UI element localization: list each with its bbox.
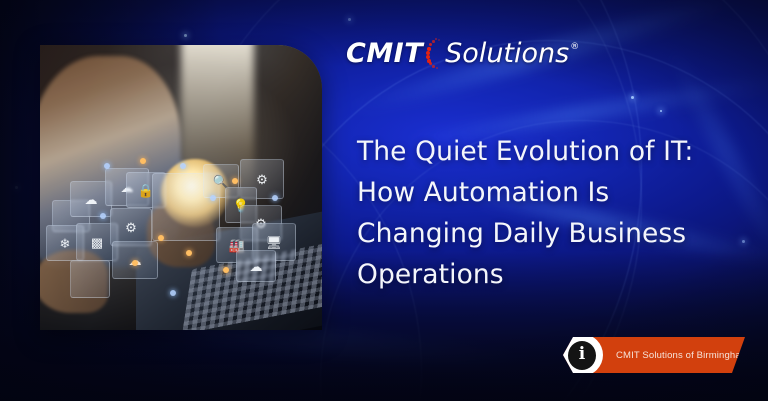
connection-node bbox=[186, 250, 192, 256]
registered-trademark-icon: ® bbox=[570, 42, 579, 52]
connection-node bbox=[140, 158, 146, 164]
connection-node bbox=[158, 235, 164, 241]
cloud-icon: ☁ bbox=[236, 250, 276, 282]
page-title: The Quiet Evolution of IT: How Automatio… bbox=[357, 131, 723, 295]
info-icon-glyph: i bbox=[568, 341, 596, 370]
connection-node bbox=[232, 178, 238, 184]
connection-node bbox=[100, 213, 106, 219]
hero-image-icon-tiles: ☁ ❄ ▩ ☁ ⚙ ☁ 🔒 🔍 ⚙ 💡 ⚙ 🏭 🖥 ☁ bbox=[40, 45, 322, 330]
franchise-badge[interactable]: i CMIT Solutions of Birmingham bbox=[563, 337, 745, 373]
franchise-badge-label: CMIT Solutions of Birmingham bbox=[616, 350, 749, 361]
connection-node bbox=[272, 195, 278, 201]
title-line-3: Changing Daily Business bbox=[357, 213, 723, 254]
logo-swoosh-icon bbox=[422, 36, 444, 70]
title-line-2: How Automation Is bbox=[357, 172, 723, 213]
connection-node bbox=[180, 163, 186, 169]
document-icon bbox=[70, 260, 110, 298]
connection-node bbox=[210, 195, 216, 201]
cmit-solutions-logo: CMIT Solutions ® bbox=[346, 36, 579, 70]
connection-node bbox=[170, 290, 176, 296]
hero-image: ☁ ❄ ▩ ☁ ⚙ ☁ 🔒 🔍 ⚙ 💡 ⚙ 🏭 🖥 ☁ bbox=[40, 45, 322, 330]
connection-node bbox=[104, 163, 110, 169]
logo-primary-text: CMIT bbox=[346, 38, 423, 69]
connection-node bbox=[132, 260, 138, 266]
connection-node bbox=[223, 267, 229, 273]
title-line-1: The Quiet Evolution of IT: bbox=[357, 131, 723, 172]
logo-secondary-text: Solutions bbox=[445, 38, 569, 69]
promo-banner: ☁ ❄ ▩ ☁ ⚙ ☁ 🔒 🔍 ⚙ 💡 ⚙ 🏭 🖥 ☁ bbox=[0, 0, 768, 401]
title-line-4: Operations bbox=[357, 254, 723, 295]
